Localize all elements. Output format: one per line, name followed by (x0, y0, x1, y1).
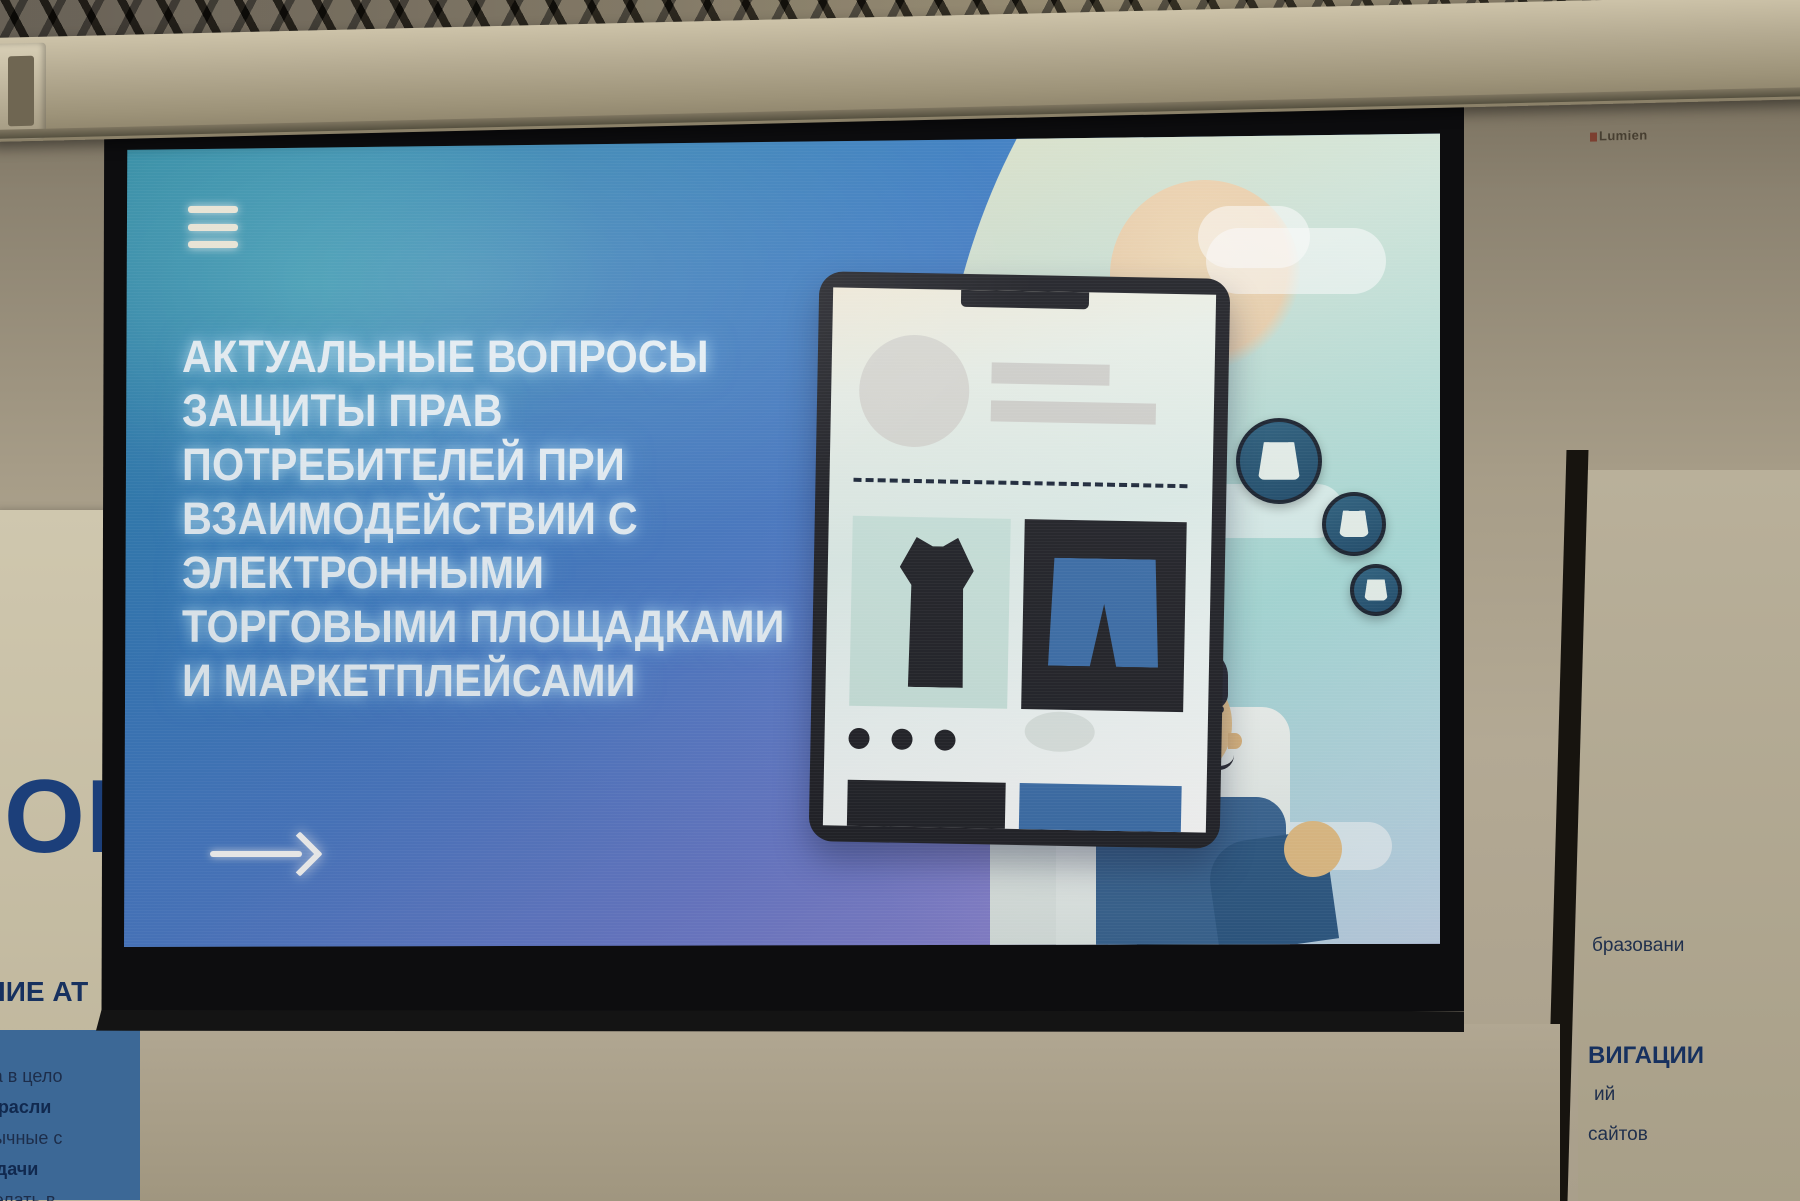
projection-screen-bottom-edge (96, 1010, 1464, 1032)
title-line: И МАРКЕТПЛЕЙСАМИ (182, 654, 789, 708)
tablet-notch (960, 290, 1088, 309)
product-card-shorts (1021, 519, 1187, 712)
dashed-divider (853, 478, 1187, 488)
right-poster-line-2: ВИГАЦИИ (1588, 1042, 1704, 1070)
shopping-bag-icon (1236, 418, 1322, 504)
housing-end-cap-inner (8, 56, 34, 127)
slide-title: АКТУАЛЬНЫЕ ВОПРОСЫ ЗАЩИТЫ ПРАВ ПОТРЕБИТЕ… (182, 330, 789, 708)
title-line: ТОРГОВЫМИ ПЛОЩАДКАМИ (182, 600, 789, 654)
presentation-slide: АКТУАЛЬНЫЕ ВОПРОСЫ ЗАЩИТЫ ПРАВ ПОТРЕБИТЕ… (124, 132, 1440, 947)
bag-body (1339, 511, 1369, 538)
bag-handle (1366, 575, 1387, 587)
pagination-dot (891, 729, 912, 750)
knee (1284, 821, 1342, 877)
cloud-shape (1198, 206, 1310, 268)
shirt-icon (898, 537, 975, 688)
bag-body (1258, 442, 1300, 479)
screen-blob (1024, 711, 1095, 752)
brand-mark (1590, 132, 1597, 141)
bag-handle (1342, 505, 1366, 519)
shopping-bag-icon (1322, 492, 1386, 556)
hamburger-line (188, 241, 238, 248)
left-poster-subheading: ЖАНИЕ АТ (0, 976, 88, 1008)
pagination-dot (848, 728, 869, 749)
pagination-dot (934, 729, 955, 750)
bag-body (1364, 579, 1388, 600)
arrow-right-icon[interactable] (210, 832, 318, 876)
shorts-icon (1048, 558, 1160, 668)
avatar (858, 334, 970, 448)
arrow-head (277, 831, 322, 876)
room-scene: ЛОВ ЖАНИЕ АТ ущего я работа в цело щего … (0, 0, 1800, 1201)
hamburger-line (188, 224, 238, 231)
right-poster-line-1: бразовани (1592, 935, 1684, 957)
product-card-shirt (849, 516, 1011, 709)
projector-brand-logo: Lumien (1590, 127, 1648, 143)
right-poster-line-4: сайтов (1588, 1124, 1648, 1146)
title-line: ЗАЩИТЫ ПРАВ (182, 384, 789, 438)
tablet-mockup (809, 271, 1231, 849)
right-wall-poster: бразовани ВИГАЦИИ ий сайтов (1578, 470, 1800, 1201)
dark-button (847, 780, 1006, 833)
brand-name: Lumien (1599, 127, 1648, 143)
title-line: АКТУАЛЬНЫЕ ВОПРОСЫ (182, 330, 789, 384)
hamburger-line (188, 206, 238, 213)
left-poster-body: ущего я работа в цело щего отрасли ся пр… (0, 1030, 154, 1200)
tablet-screen (823, 287, 1216, 832)
bag-handle (1264, 434, 1293, 452)
placeholder-text-line (991, 400, 1156, 424)
blue-button (1019, 783, 1182, 833)
nose (1228, 733, 1242, 749)
wall-below-screen (140, 1024, 1560, 1201)
shopping-bag-icon (1350, 564, 1402, 616)
placeholder-text-line (991, 362, 1109, 385)
right-poster-line-3: ий (1594, 1084, 1615, 1106)
pagination-dots (848, 728, 955, 751)
title-line: ЭЛЕКТРОННЫМИ (182, 546, 789, 600)
title-line: ВЗАИМОДЕЙСТВИИ С (182, 492, 789, 546)
hamburger-menu-icon[interactable] (188, 206, 240, 248)
title-line: ПОТРЕБИТЕЛЕЙ ПРИ (182, 438, 789, 492)
